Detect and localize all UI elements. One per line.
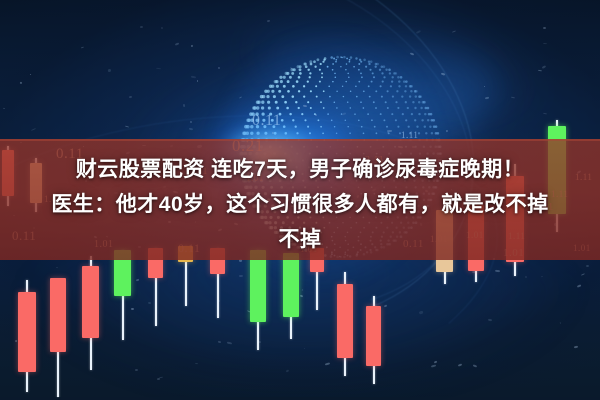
candle-body	[50, 278, 66, 352]
candle-body	[337, 284, 353, 358]
headline-band-edge	[0, 139, 600, 141]
price-tick: 0.11	[252, 112, 281, 130]
candle-body	[82, 266, 99, 338]
promo-banner-image: 0.110.110.211.113.111.111.110.111.010.11…	[0, 0, 600, 400]
candle-body	[366, 306, 381, 366]
headline-band	[0, 139, 600, 260]
candle-body	[250, 250, 266, 322]
candle-body	[283, 253, 299, 317]
